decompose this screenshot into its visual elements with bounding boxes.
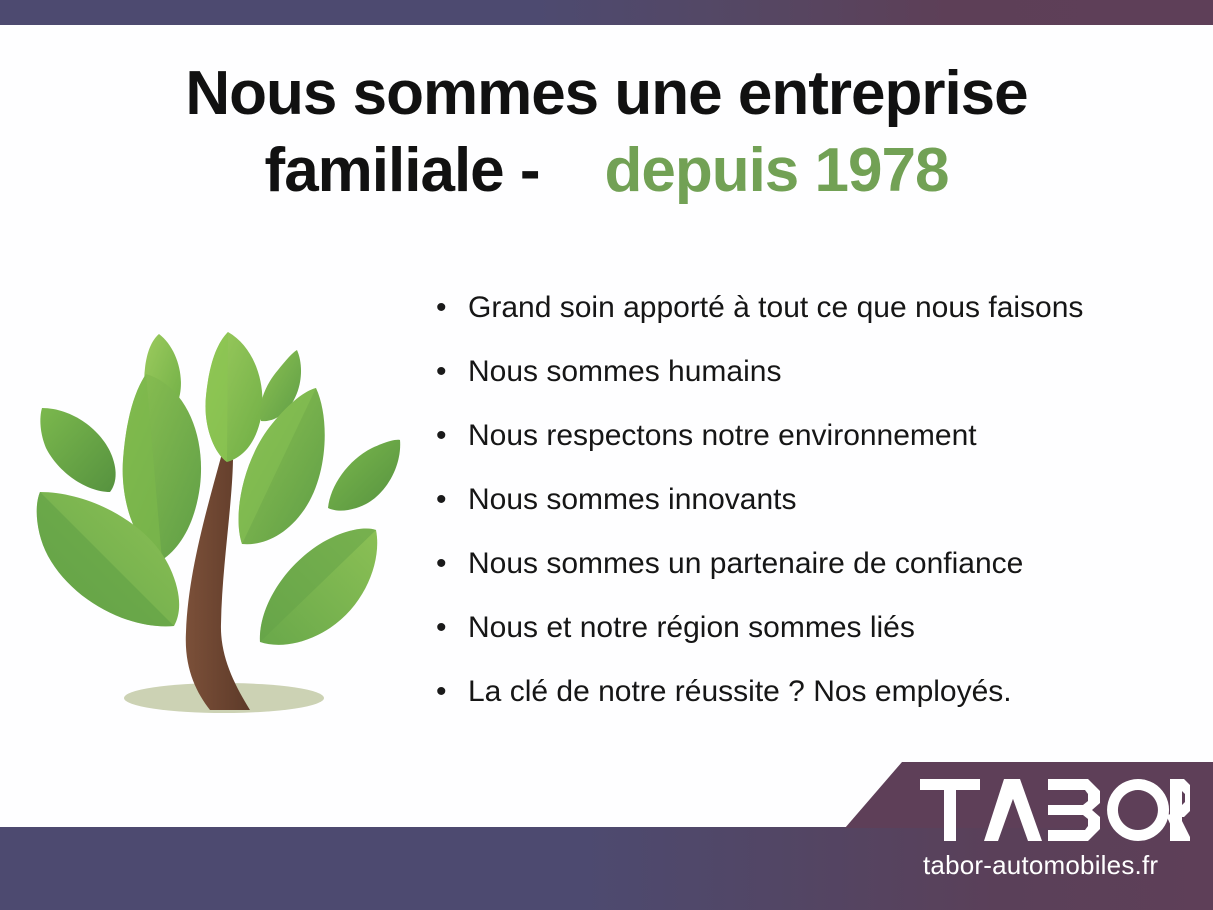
leaf-top-center-shade (205, 332, 228, 462)
list-item-label: Nous et notre région sommes liés (468, 611, 915, 645)
list-item: • Grand soin apporté à tout ce que nous … (430, 291, 1150, 355)
bullet-icon: • (430, 291, 468, 325)
list-item: • Nous sommes innovants (430, 483, 1150, 547)
slide-canvas: Nous sommes une entreprise familiale - d… (0, 0, 1213, 910)
list-item-label: Grand soin apporté à tout ce que nous fa… (468, 291, 1083, 325)
tree-illustration (28, 312, 420, 730)
bullet-icon: • (430, 547, 468, 581)
page-title: Nous sommes une entreprise familiale - d… (60, 56, 1153, 210)
bullet-icon: • (430, 419, 468, 453)
list-item: • Nous respectons notre environnement (430, 419, 1150, 483)
list-item: • Nous sommes un partenaire de confiance (430, 547, 1150, 611)
list-item: • Nous sommes humains (430, 355, 1150, 419)
headline-line-2: familiale - depuis 1978 (60, 133, 1153, 210)
bullet-icon: • (430, 675, 468, 709)
list-item-label: Nous sommes un partenaire de confiance (468, 547, 1023, 581)
bullet-icon: • (430, 483, 468, 517)
logo-panel (845, 762, 1213, 828)
headline-accent-year: depuis 1978 (604, 136, 948, 205)
bullet-icon: • (430, 611, 468, 645)
bottom-accent-bar (0, 827, 1213, 910)
list-item-label: La clé de notre réussite ? Nos employés. (468, 675, 1012, 709)
headline-line-2-plain: familiale - (265, 136, 540, 205)
headline-line-1: Nous sommes une entreprise (60, 56, 1153, 133)
leaf-left-small (40, 408, 115, 492)
list-item: • La clé de notre réussite ? Nos employé… (430, 675, 1150, 739)
list-item-label: Nous respectons notre environnement (468, 419, 977, 453)
leaf-right-small (328, 440, 400, 511)
list-item-label: Nous sommes humains (468, 355, 781, 389)
value-list: • Grand soin apporté à tout ce que nous … (430, 291, 1150, 739)
list-item: • Nous et notre région sommes liés (430, 611, 1150, 675)
list-item-label: Nous sommes innovants (468, 483, 796, 517)
top-accent-bar (0, 0, 1213, 25)
bullet-icon: • (430, 355, 468, 389)
